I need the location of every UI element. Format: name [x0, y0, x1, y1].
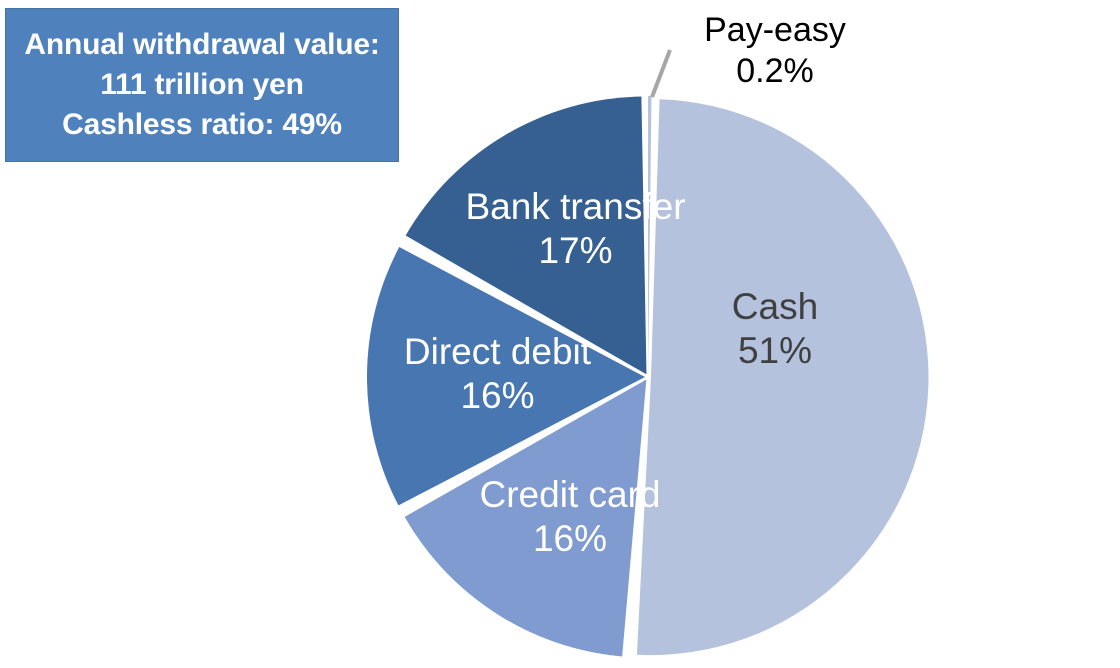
callout-line-2: 111 trillion yen	[100, 66, 304, 104]
chart-canvas: Cash 51% Credit card 16% Direct debit 16…	[0, 0, 1120, 668]
callout-line-1: Annual withdrawal value:	[24, 26, 379, 64]
pie-slice-pay-easy[interactable]	[648, 96, 651, 374]
pie-slice-cash[interactable]	[637, 99, 929, 655]
pay-easy-leader-line	[652, 50, 670, 97]
annotation-callout-box: Annual withdrawal value: 111 trillion ye…	[5, 8, 399, 162]
callout-line-3: Cashless ratio: 49%	[62, 106, 342, 144]
